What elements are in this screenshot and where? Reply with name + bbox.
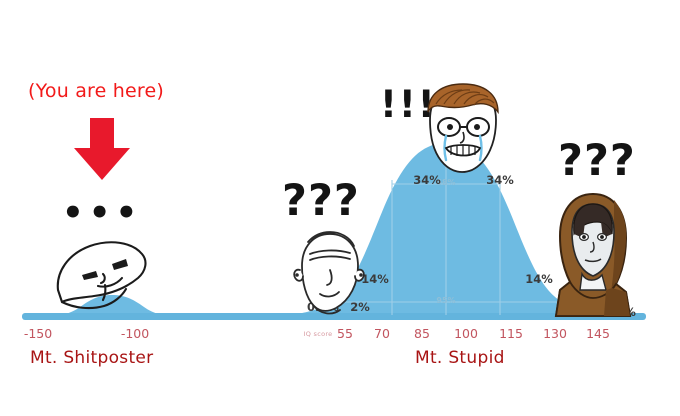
caption-mt-shitposter: Mt. Shitposter <box>30 348 153 368</box>
hoodie-wojak-icon <box>552 190 634 318</box>
axis-tick-100: 100 <box>454 326 478 341</box>
axis-tick-55: 55 <box>337 326 353 341</box>
axis-tick-145: 145 <box>586 326 610 341</box>
percent-label-right-14: 14% <box>525 272 553 286</box>
reaction-question-marks-middle: ??? <box>282 180 360 223</box>
you-are-here-label: (You are here) <box>28 80 164 102</box>
percent-label-right-34: 34% <box>486 173 514 187</box>
axis-tick-85: 85 <box>414 326 430 341</box>
wojak-confused-icon <box>288 226 370 318</box>
axis-tick-70: 70 <box>374 326 390 341</box>
axis-tick--100: -100 <box>121 326 149 341</box>
axis-tick-115: 115 <box>499 326 523 341</box>
axis-tick--150: -150 <box>24 326 52 341</box>
inner-percent-95: 95% <box>436 296 455 305</box>
reaction-dots: ••• <box>62 196 142 230</box>
brainlet-wojak-icon <box>48 228 152 320</box>
soyjak-crying-icon <box>418 82 508 174</box>
axis-title-iq-score: IQ score <box>304 330 333 338</box>
percent-label-left-34: 34% <box>413 173 441 187</box>
meme-canvas: (You are here) 68% 95% 0.1% 2% 14% 34% 3… <box>0 0 680 416</box>
reaction-question-marks-right: ??? <box>558 140 636 183</box>
caption-mt-stupid: Mt. Stupid <box>415 348 505 368</box>
axis-tick-130: 130 <box>543 326 567 341</box>
